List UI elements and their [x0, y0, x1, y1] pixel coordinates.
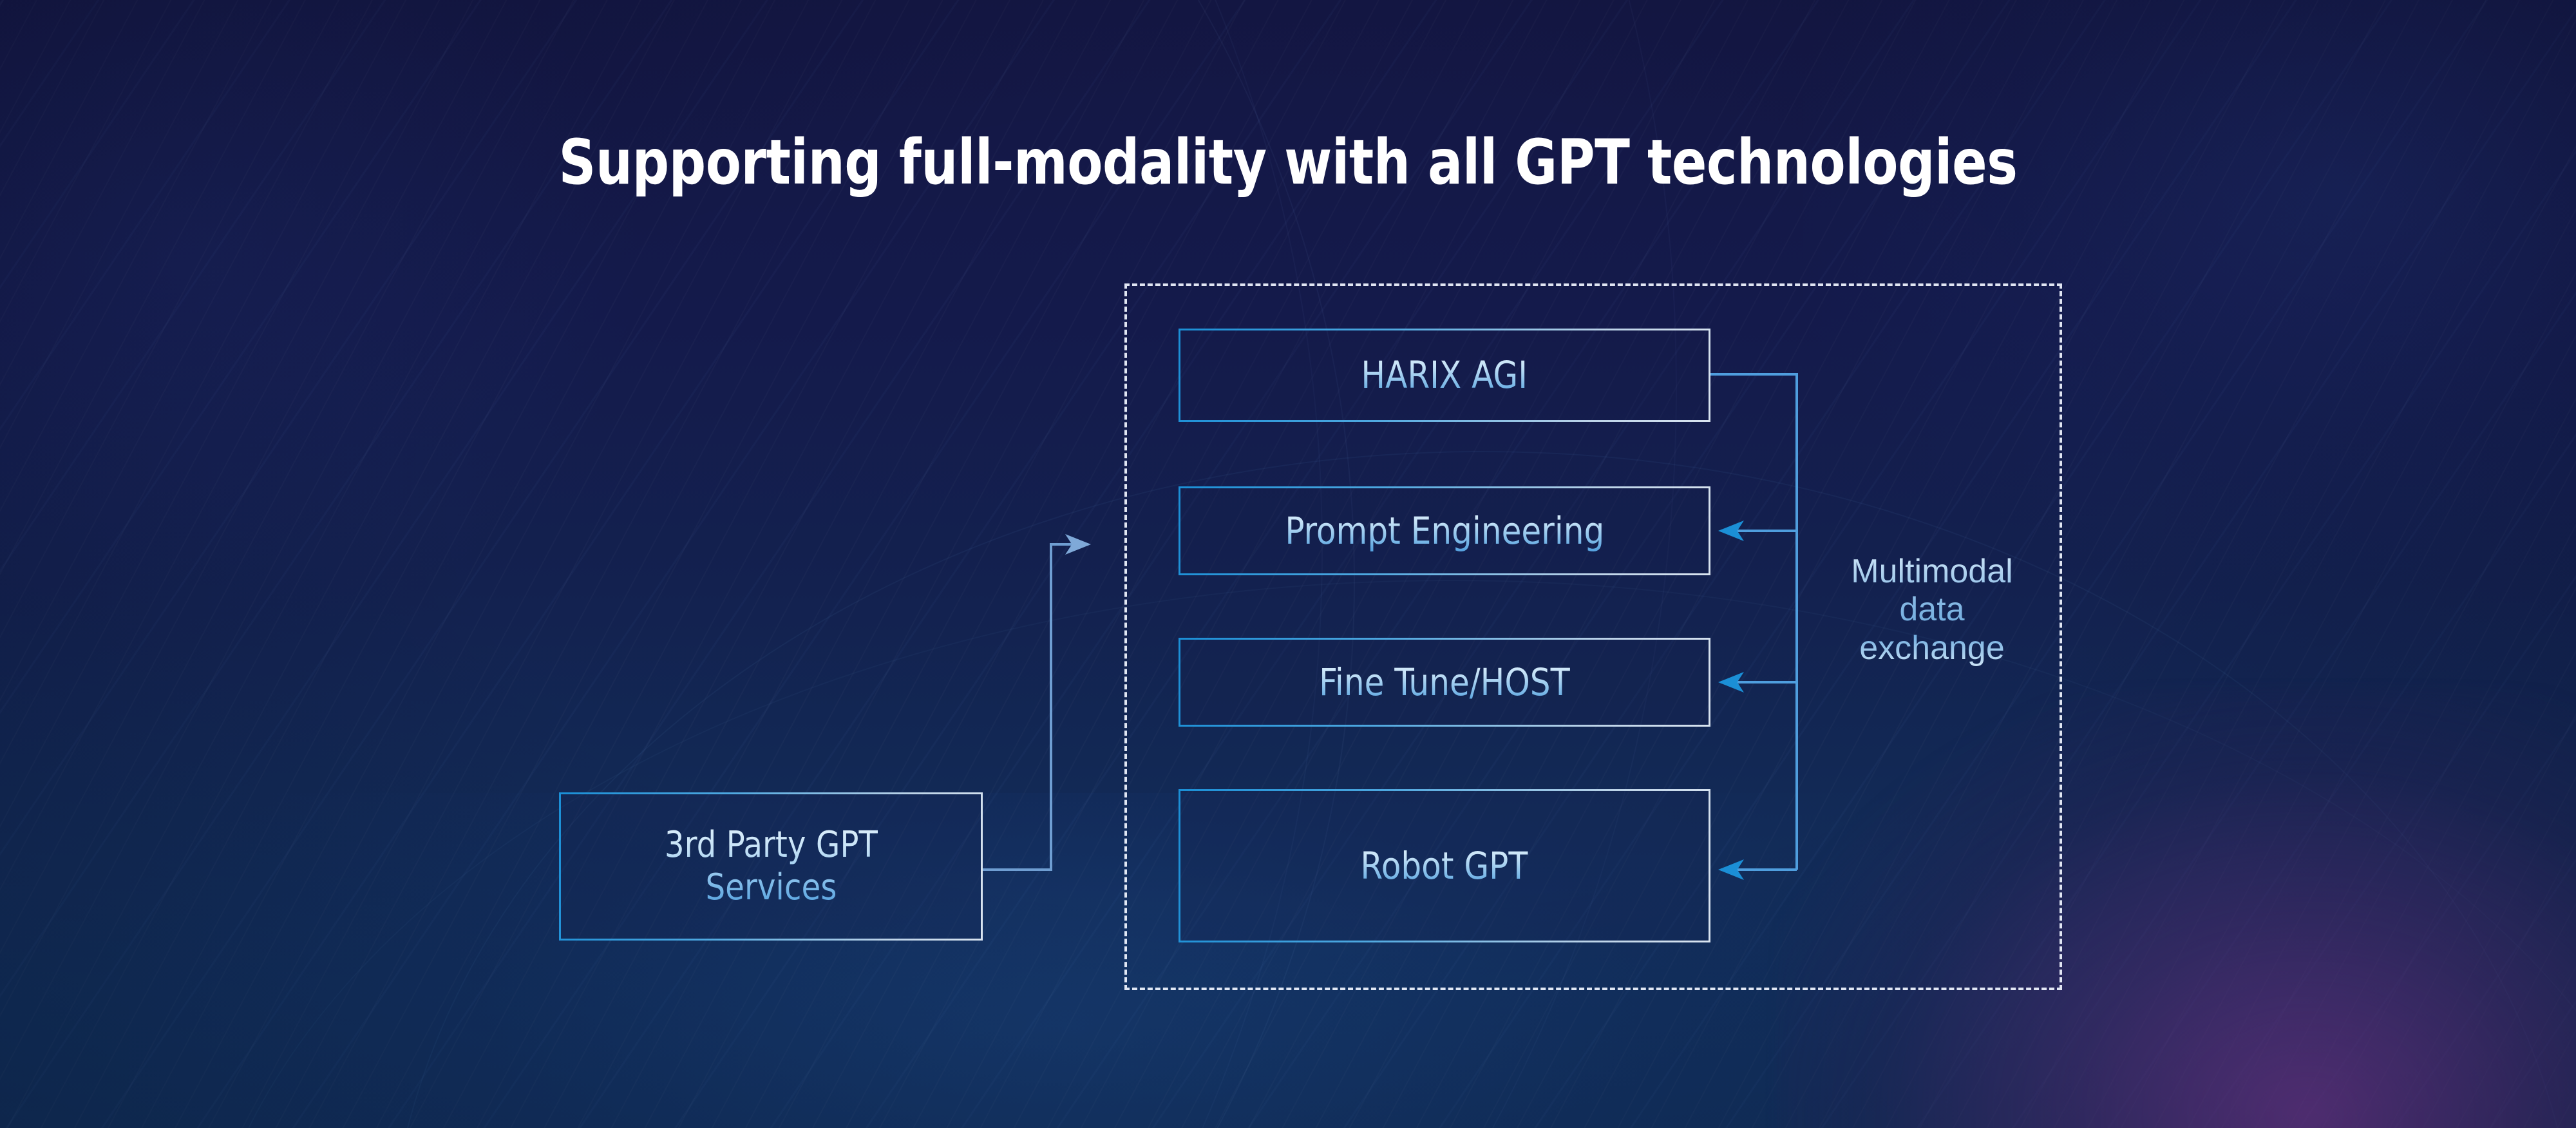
node-prompt-engineering-label: Prompt Engineering: [1285, 509, 1604, 553]
annotation-multimodal-data-exchange: Multimodal data exchange: [1829, 553, 2035, 667]
node-robot-gpt-label: Robot GPT: [1361, 844, 1529, 888]
node-harix-agi[interactable]: HARIX AGI: [1179, 329, 1710, 422]
node-third-party-gpt-services-label: 3rd Party GPT Services: [664, 824, 877, 909]
node-harix-agi-label: HARIX AGI: [1361, 353, 1528, 397]
node-third-party-gpt-services[interactable]: 3rd Party GPT Services: [559, 792, 983, 941]
slide-canvas: Supporting full-modality with all GPT te…: [0, 0, 2576, 1128]
node-fine-tune-host[interactable]: Fine Tune/HOST: [1179, 638, 1710, 727]
node-fine-tune-host-label: Fine Tune/HOST: [1319, 660, 1570, 704]
connector-harix-trunk: [1710, 374, 1797, 870]
node-prompt-engineering[interactable]: Prompt Engineering: [1179, 486, 1710, 575]
connector-third-party-to-group: [983, 544, 1088, 870]
node-robot-gpt[interactable]: Robot GPT: [1179, 789, 1710, 942]
